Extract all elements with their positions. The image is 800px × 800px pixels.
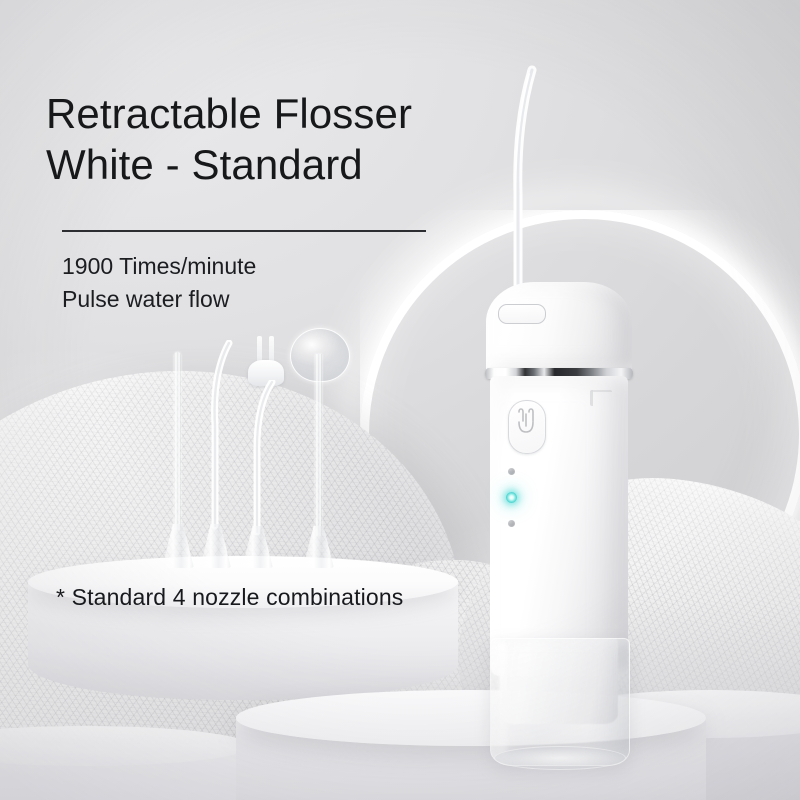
nozzle-footnote: * Standard 4 nozzle combinations: [56, 584, 403, 611]
spec-text: 1900 Times/minute Pulse water flow: [62, 250, 482, 315]
page-title: Retractable Flosser White - Standard: [46, 88, 516, 190]
product-marketing-image: Retractable Flosser White - Standard 190…: [0, 0, 800, 800]
title-divider: [62, 230, 426, 232]
